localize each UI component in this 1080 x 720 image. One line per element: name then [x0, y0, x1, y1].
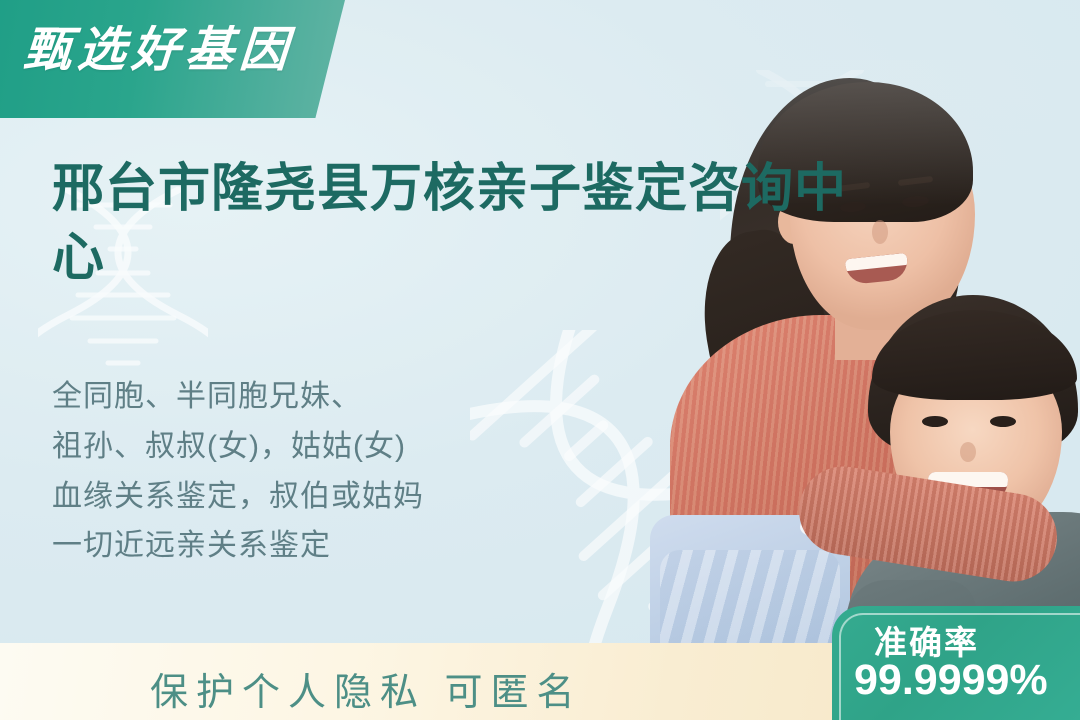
accuracy-badge: 准确率 99.9999%: [832, 606, 1080, 720]
description-line-4: 一切近远亲关系鉴定: [52, 521, 572, 571]
brand-banner-text: 甄选好基因: [22, 10, 297, 80]
description-line-3: 血缘关系鉴定，叔伯或姑妈: [52, 472, 572, 522]
description-line-2: 祖孙、叔叔(女)，姑姑(女): [52, 422, 572, 472]
promo-poster: 甄选好基因 邢台市隆尧县万核亲子鉴定咨询中心 全同胞、半同胞兄妹、 祖孙、叔叔(…: [0, 0, 1080, 720]
brand-banner: 甄选好基因: [0, 0, 348, 118]
description-line-1: 全同胞、半同胞兄妹、: [52, 372, 572, 422]
accuracy-value: 99.9999%: [854, 656, 1048, 705]
privacy-tagline: 保护个人隐私 可匿名: [150, 661, 583, 716]
service-description: 全同胞、半同胞兄妹、 祖孙、叔叔(女)，姑姑(女) 血缘关系鉴定，叔伯或姑妈 一…: [52, 372, 572, 571]
page-title: 邢台市隆尧县万核亲子鉴定咨询中心: [52, 155, 852, 293]
